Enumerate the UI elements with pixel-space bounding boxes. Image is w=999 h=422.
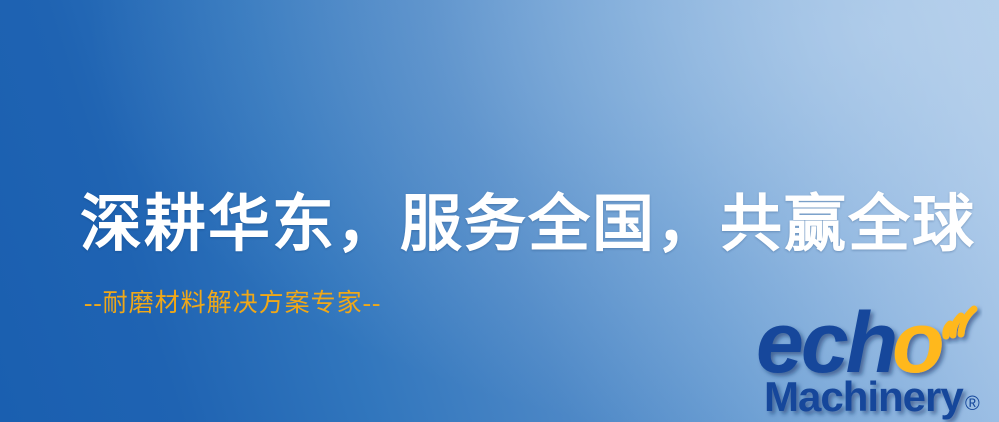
signal-wave-icon — [946, 309, 974, 336]
hero-banner: 深耕华东，服务全国，共赢全球 --耐磨材料解决方案专家-- ech o Mach… — [0, 0, 999, 422]
registered-trademark-icon: ® — [965, 393, 980, 415]
brand-logo[interactable]: ech o Machinery ® — [750, 292, 999, 422]
page-subtitle: --耐磨材料解决方案专家-- — [84, 291, 381, 316]
page-title: 深耕华东，服务全国，共赢全球 — [80, 194, 976, 256]
logo-text-machinery: Machinery — [764, 373, 964, 420]
echo-machinery-logo-icon: ech o Machinery ® — [750, 292, 999, 422]
